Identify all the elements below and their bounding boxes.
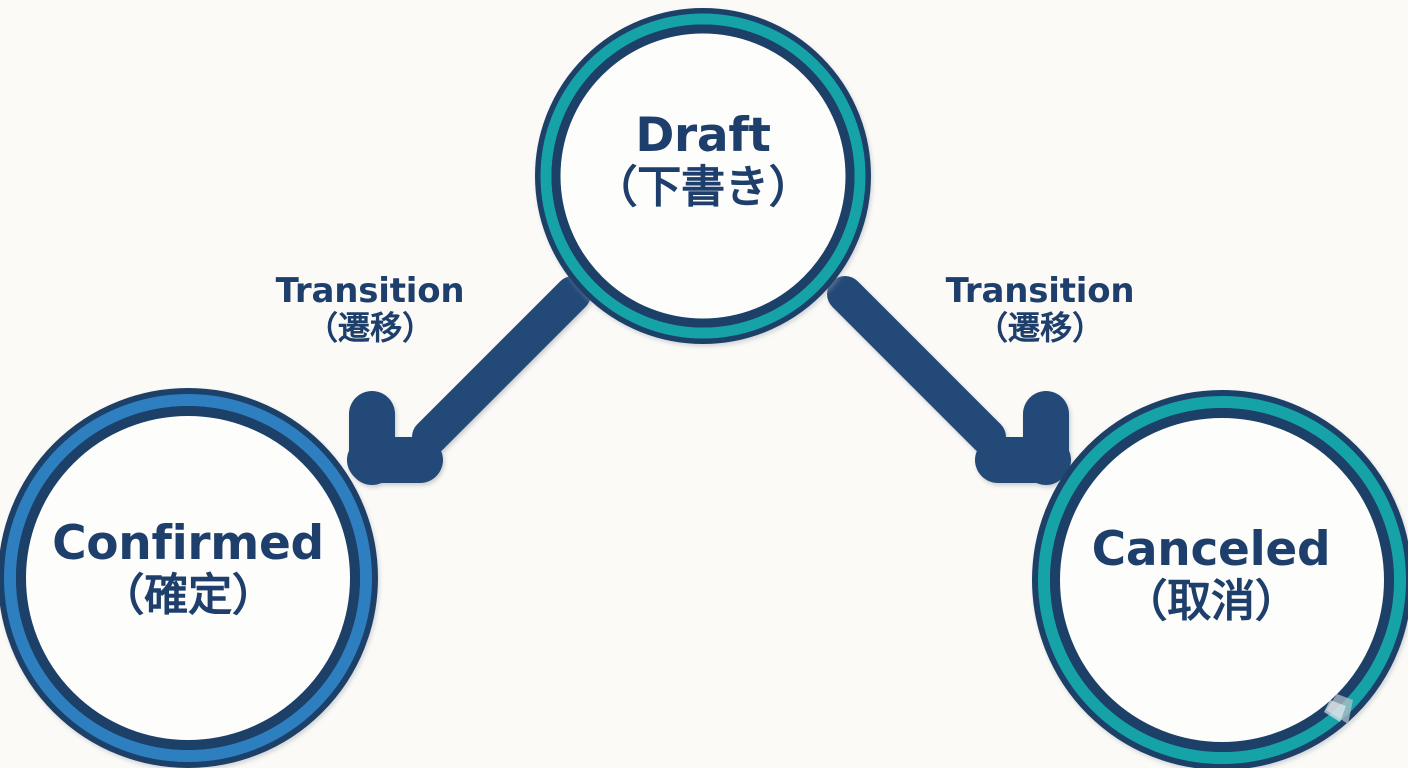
state-node-draft[interactable] [546,19,860,333]
state-node-confirmed[interactable] [10,400,366,756]
arrow-shaft-left [430,294,573,437]
arrow-head-right-group [998,414,1048,462]
state-diagram-canvas: Draft （下書き） Confirmed （確定） Canceled （取消）… [0,0,1408,768]
edge-draft-to-confirmed [360,294,573,462]
arrow-head-left-group [370,414,420,462]
arrow-shaft-right [845,294,988,437]
edge-draft-to-canceled [845,294,1048,462]
state-node-canceled[interactable] [1044,402,1400,758]
diagram-graphics [0,0,1408,768]
